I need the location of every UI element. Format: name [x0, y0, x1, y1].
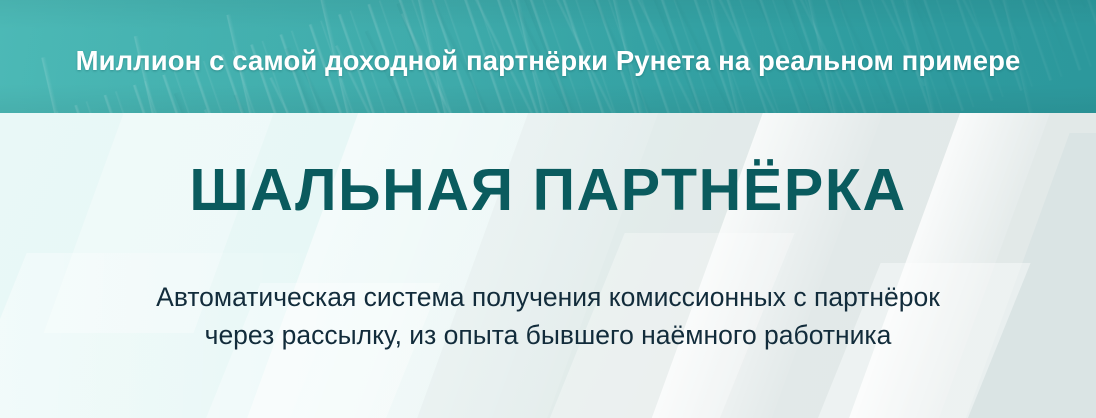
- header-tagline: Миллион с самой доходной партнёрки Рунет…: [0, 0, 1096, 113]
- hero-section: ШАЛЬНАЯ ПАРТНЁРКА Автоматическая система…: [0, 113, 1096, 418]
- page-title: ШАЛЬНАЯ ПАРТНЁРКА: [189, 161, 906, 220]
- hero-subtitle-line-1: Автоматическая система получения комисси…: [156, 278, 940, 316]
- hero-content: ШАЛЬНАЯ ПАРТНЁРКА Автоматическая система…: [0, 113, 1096, 418]
- hero-subtitle: Автоматическая система получения комисси…: [156, 278, 940, 354]
- header-banner: Миллион с самой доходной партнёрки Рунет…: [0, 0, 1096, 113]
- hero-subtitle-line-2: через рассылку, из опыта бывшего наёмног…: [156, 316, 940, 354]
- landing-hero-page: Миллион с самой доходной партнёрки Рунет…: [0, 0, 1096, 418]
